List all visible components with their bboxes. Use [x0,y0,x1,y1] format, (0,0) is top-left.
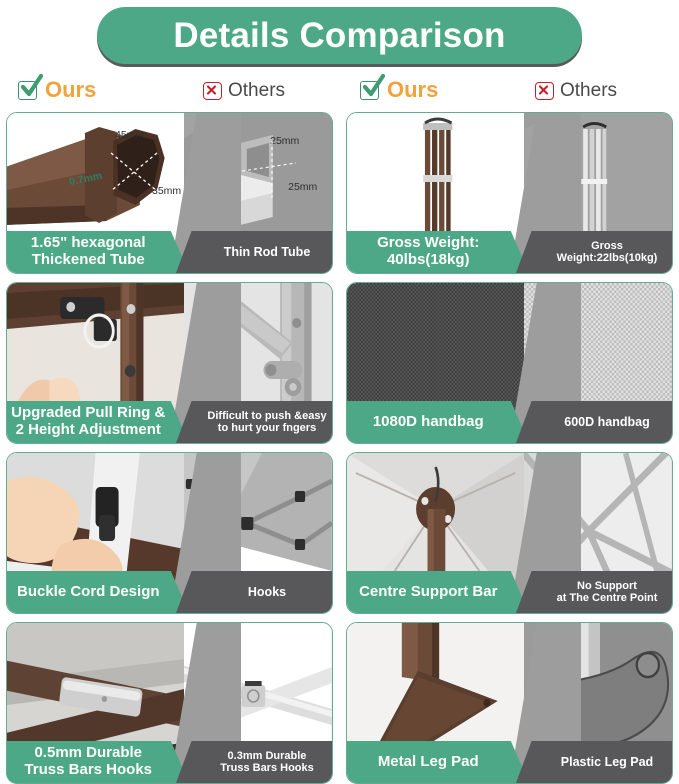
others-caption: Plastic Leg Pad [516,741,672,783]
others-caption-line2: at The Centre Point [557,592,658,604]
cross-mark-box-icon [535,80,555,100]
legend-others-left: Others [203,72,285,108]
caption-bar: 1.65" hexagonalThickened Tube Thin Rod T… [7,231,332,273]
ours-caption-line1: 1080D handbag [373,414,484,431]
ours-caption-line2: 2 Height Adjustment [16,421,161,438]
others-caption: Thin Rod Tube [176,231,332,273]
others-caption: Hooks [176,571,332,613]
legend-ours-label: Ours [45,79,96,101]
ours-caption-line2: Truss Bars Hooks [24,761,152,778]
header-banner: Details Comparison [97,7,582,64]
legend-row: Ours Others Ours Others [0,72,679,108]
legend-others-right: Others [535,72,617,108]
ours-caption-line1: 0.5mm Durable [34,744,142,761]
comparison-grid: 45mm 35mm 0.7mm [6,112,673,784]
legend-others-label: Others [228,81,285,100]
others-caption-line2: to hurt your fngers [218,422,316,434]
comparison-infographic: Details Comparison Ours Others Ours [0,0,679,697]
page-title: Details Comparison [173,18,505,53]
ours-caption-line1: Gross Weight: [377,234,479,251]
comparison-card-truss-bars: 0.5mm DurableTruss Bars Hooks 0.3mm Dura… [6,622,333,784]
others-caption-line1: No Support [577,580,637,592]
comparison-card-weight: Gross Weight:40lbs(18kg) Gross Weight:22… [346,112,673,274]
caption-bar: 0.5mm DurableTruss Bars Hooks 0.3mm Dura… [7,741,332,783]
ours-caption: 1.65" hexagonalThickened Tube [7,231,189,273]
caption-bar: Metal Leg Pad Plastic Leg Pad [347,741,672,783]
cross-mark-box-icon [203,80,223,100]
comparison-card-handbag: 1080D handbag 600D handbag [346,282,673,444]
ours-caption: Centre Support Bar [347,571,529,613]
ours-caption: Metal Leg Pad [347,741,529,783]
caption-bar: Upgraded Pull Ring &2 Height Adjustment … [7,401,332,443]
ours-caption: Gross Weight:40lbs(18kg) [347,231,529,273]
comparison-card-leg-pad: Metal Leg Pad Plastic Leg Pad [346,622,673,784]
ours-caption-line1: Buckle Cord Design [17,584,160,601]
ours-caption-line1: Upgraded Pull Ring & [11,404,165,421]
header-banner-wrap: Details Comparison [0,4,679,66]
others-caption: No Supportat The Centre Point [516,571,672,613]
ours-caption-line1: Centre Support Bar [359,584,497,601]
caption-bar: 1080D handbag 600D handbag [347,401,672,443]
others-caption: Gross Weight:22lbs(10kg) [516,231,672,273]
comparison-card-centre-support: Centre Support Bar No Supportat The Cent… [346,452,673,614]
caption-bar: Centre Support Bar No Supportat The Cent… [347,571,672,613]
others-caption-line1: 0.3mm Durable [228,750,307,762]
caption-bar: Buckle Cord Design Hooks [7,571,332,613]
others-caption: 600D handbag [516,401,672,443]
ours-caption-line2: 40lbs(18kg) [387,251,470,268]
others-caption-line2: Truss Bars Hooks [220,762,314,774]
legend-ours-label: Ours [387,79,438,101]
ours-caption-line1: Metal Leg Pad [378,754,479,771]
comparison-card-buckle-cord: Buckle Cord Design Hooks [6,452,333,614]
others-caption: 0.3mm DurableTruss Bars Hooks [176,741,332,783]
ours-caption-line2: Thickened Tube [32,251,145,268]
comparison-card-tube: 45mm 35mm 0.7mm [6,112,333,274]
ours-caption: Upgraded Pull Ring &2 Height Adjustment [7,401,189,443]
legend-others-label: Others [560,81,617,100]
ours-caption: 1080D handbag [347,401,529,443]
ours-caption-line1: 1.65" hexagonal [31,234,146,251]
check-mark-box-icon [18,79,40,101]
check-mark-box-icon [360,79,382,101]
comparison-card-pull-ring: Upgraded Pull Ring &2 Height Adjustment … [6,282,333,444]
ours-caption: Buckle Cord Design [7,571,189,613]
others-caption: Difficult to push &easyto hurt your fnge… [176,401,332,443]
others-caption-line1: Difficult to push &easy [207,410,326,422]
caption-bar: Gross Weight:40lbs(18kg) Gross Weight:22… [347,231,672,273]
legend-ours-right: Ours [360,72,438,108]
legend-ours-left: Ours [18,72,96,108]
ours-caption: 0.5mm DurableTruss Bars Hooks [7,741,189,783]
